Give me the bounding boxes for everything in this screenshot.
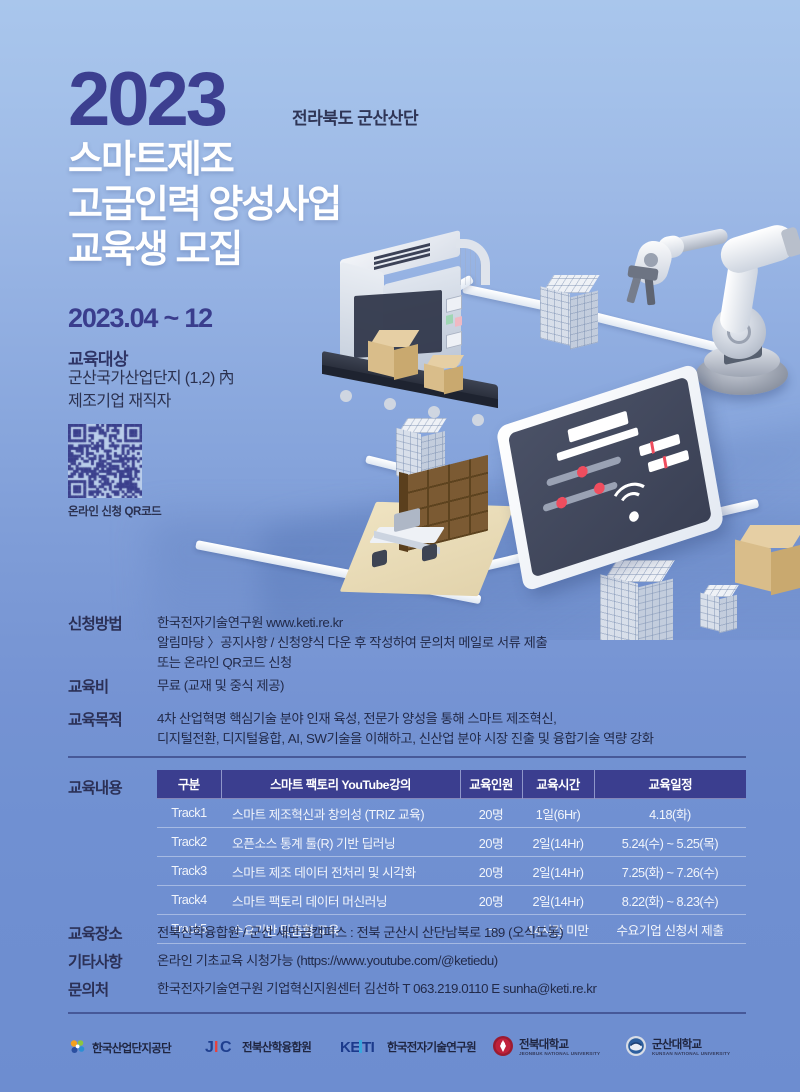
table-row: Track2오픈소스 통계 툴(R) 기반 딥러닝20명2일(14Hr)5.24…: [157, 828, 746, 857]
cardboard-box: [424, 355, 466, 395]
divider-above-curriculum: [68, 756, 746, 758]
logo-kunsan: 군산대학교 KUNSAN NATIONAL UNIVERSITY: [625, 1035, 730, 1060]
logo-jbnu-label: 전북대학교: [519, 1039, 600, 1051]
col-header-schedule: 교육일정: [594, 770, 746, 799]
info-value-etc: 온라인 기초교육 시청가능 (https://www.youtube.com/@…: [157, 951, 757, 971]
program-period: 2023.04 ~ 12: [68, 303, 212, 334]
headline-line-2: 고급인력 양성사업: [68, 183, 538, 228]
apply-line-2: 알림마당 〉공지사항 / 신청양식 다운 후 작성하여 문의처 메일로 서류 제…: [157, 633, 757, 653]
logo-kunsan-label: 군산대학교: [652, 1039, 730, 1051]
kicox-pinwheel-icon: [68, 1038, 87, 1060]
svg-text:C: C: [220, 1039, 232, 1055]
cell-capacity: 20명: [460, 886, 522, 915]
col-header-division: 구분: [157, 770, 221, 799]
cell-capacity: 20명: [460, 828, 522, 857]
fee-line-1: 무료 (교재 및 중식 제공): [157, 676, 757, 696]
place-line-1: 전북산학융합원 / 군산 새만금캠퍼스 : 전북 군산시 산단남북로 189 (…: [157, 923, 757, 943]
col-header-course: 스마트 팩토리 YouTube강의: [221, 770, 460, 799]
target-line-2: 제조기업 재직자: [68, 391, 234, 414]
info-label-fee: 교육비: [68, 675, 154, 697]
cell-duration: 2일(14Hr): [522, 857, 594, 886]
cardboard-box: [368, 330, 420, 380]
logo-keti-label: 한국전자기술연구원: [387, 1042, 476, 1054]
etc-line-1[interactable]: 온라인 기초교육 시청가능 (https://www.youtube.com/@…: [157, 951, 757, 971]
curriculum-table: 구분 스마트 팩토리 YouTube강의 교육인원 교육시간 교육일정 Trac…: [157, 770, 746, 944]
jic-icon: J I C: [205, 1038, 237, 1058]
contact-line-1[interactable]: 한국전자기술연구원 기업혁신지원센터 김선하 T 063.219.0110 E …: [157, 979, 757, 999]
logo-kicox-label: 한국산업단지공단: [92, 1043, 171, 1055]
logo-jic-label: 전북산학융합원: [242, 1042, 311, 1054]
col-header-capacity: 교육인원: [460, 770, 522, 799]
logo-kicox: 한국산업단지공단: [68, 1038, 171, 1060]
keti-icon: KE TI: [340, 1038, 382, 1059]
gripper: [626, 274, 641, 303]
qr-code-image[interactable]: [68, 424, 142, 498]
apply-line-1: 한국전자기술연구원 www.keti.re.kr: [157, 613, 757, 633]
info-label-purpose: 교육목적: [68, 708, 154, 730]
cardboard-box: [735, 525, 800, 595]
cell-course: 스마트 제조혁신과 창의성 (TRIZ 교육): [221, 799, 460, 828]
cell-capacity: 20명: [460, 857, 522, 886]
info-value-contact: 한국전자기술연구원 기업혁신지원센터 김선하 T 063.219.0110 E …: [157, 979, 757, 999]
slider-knob: [555, 496, 567, 510]
table-row: Track4스마트 팩토리 데이터 머신러닝20명2일(14Hr)8.22(화)…: [157, 886, 746, 915]
info-value-fee: 무료 (교재 및 중식 제공): [157, 676, 757, 696]
svg-text:KE: KE: [340, 1039, 360, 1055]
cell-division: Track4: [157, 886, 221, 915]
apply-line-3: 또는 온라인 QR코드 신청: [157, 653, 757, 673]
poster-region: 전라북도 군산산단: [292, 104, 418, 129]
info-label-place: 교육장소: [68, 922, 154, 944]
poster-headline: 스마트제조 고급인력 양성사업 교육생 모집: [68, 138, 538, 272]
table-row: Track3스마트 제조 데이터 전처리 및 시각화20명2일(14Hr)7.2…: [157, 857, 746, 886]
footer-logos: 한국산업단지공단 J I C 전북산학융합원 KE TI 한국전자기술연구원: [0, 1034, 800, 1074]
headline-line-3: 교육생 모집: [68, 228, 538, 273]
table-body: Track1스마트 제조혁신과 창의성 (TRIZ 교육)20명1일(6Hr)4…: [157, 799, 746, 944]
cell-division: Track3: [157, 857, 221, 886]
divider-above-footer: [68, 1012, 746, 1014]
svg-text:J: J: [205, 1039, 213, 1055]
cell-duration: 2일(14Hr): [522, 828, 594, 857]
info-value-apply: 한국전자기술연구원 www.keti.re.kr 알림마당 〉공지사항 / 신청…: [157, 613, 757, 674]
cell-schedule: 7.25(화) ~ 7.26(수): [594, 857, 746, 886]
jbnu-crest-icon: [492, 1035, 514, 1060]
poster-year: 2023: [68, 62, 225, 138]
cell-course: 오픈소스 통계 툴(R) 기반 딥러닝: [221, 828, 460, 857]
cell-schedule: 8.22(화) ~ 8.23(수): [594, 886, 746, 915]
info-label-apply: 신청방법: [68, 612, 154, 634]
logo-jbnu-label-en: JEONBUK NATIONAL UNIVERSITY: [519, 1051, 600, 1056]
svg-text:TI: TI: [362, 1039, 375, 1055]
logo-jbnu: 전북대학교 JEONBUK NATIONAL UNIVERSITY: [492, 1035, 600, 1060]
table-row: Track1스마트 제조혁신과 창의성 (TRIZ 교육)20명1일(6Hr)4…: [157, 799, 746, 828]
cell-division: Track2: [157, 828, 221, 857]
cell-schedule: 4.18(화): [594, 799, 746, 828]
info-label-etc: 기타사항: [68, 950, 154, 972]
info-value-place: 전북산학융합원 / 군산 새만금캠퍼스 : 전북 군산시 산단남북로 189 (…: [157, 923, 757, 943]
logo-kunsan-label-en: KUNSAN NATIONAL UNIVERSITY: [652, 1051, 730, 1056]
cell-duration: 1일(6Hr): [522, 799, 594, 828]
svg-text:I: I: [214, 1039, 218, 1055]
logo-jic: J I C 전북산학융합원: [205, 1038, 311, 1058]
purpose-line-2: 디지털전환, 디지털융합, AI, SW기술을 이해하고, 신산업 분야 시장 …: [157, 729, 757, 749]
cell-course: 스마트 제조 데이터 전처리 및 시각화: [221, 857, 460, 886]
table-header-row: 구분 스마트 팩토리 YouTube강의 교육인원 교육시간 교육일정: [157, 770, 746, 799]
qr-code-label: 온라인 신청 QR코드: [68, 503, 161, 519]
poster-canvas: 2023 전라북도 군산산단 스마트제조 고급인력 양성사업 교육생 모집 20…: [0, 0, 800, 1092]
info-value-purpose: 4차 산업혁명 핵심기술 분야 인재 육성, 전문가 양성을 통해 스마트 제조…: [157, 709, 757, 749]
cell-schedule: 5.24(수) ~ 5.25(목): [594, 828, 746, 857]
slider-knob: [576, 465, 588, 479]
cell-capacity: 20명: [460, 799, 522, 828]
col-header-duration: 교육시간: [522, 770, 594, 799]
target-label: 교육대상: [68, 345, 128, 370]
qr-code[interactable]: [68, 424, 142, 503]
target-line-1: 군산국가산업단지 (1,2) 內: [68, 368, 234, 391]
kunsan-crest-icon: [625, 1035, 647, 1060]
cell-course: 스마트 팩토리 데이터 머신러닝: [221, 886, 460, 915]
target-description: 군산국가산업단지 (1,2) 內 제조기업 재직자: [68, 368, 234, 413]
cell-duration: 2일(14Hr): [522, 886, 594, 915]
purpose-line-1: 4차 산업혁명 핵심기술 분야 인재 육성, 전문가 양성을 통해 스마트 제조…: [157, 709, 757, 729]
info-label-contact: 문의처: [68, 978, 154, 1000]
cell-division: Track1: [157, 799, 221, 828]
logo-keti: KE TI 한국전자기술연구원: [340, 1038, 476, 1059]
headline-line-1: 스마트제조: [68, 138, 538, 183]
block-stack: [540, 275, 608, 353]
curriculum-label: 교육내용: [68, 776, 122, 798]
